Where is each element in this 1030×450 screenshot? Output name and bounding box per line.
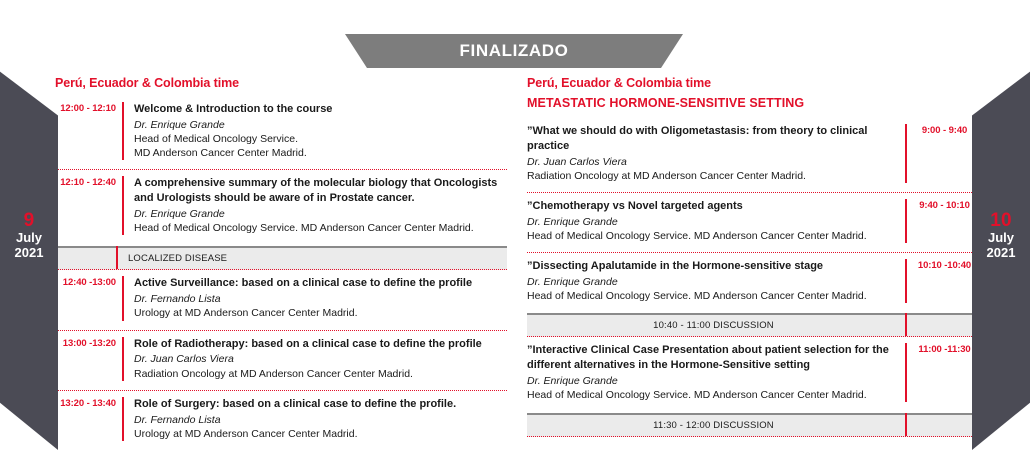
session-body: ”Chemotherapy vs Novel targeted agents D… bbox=[527, 199, 905, 243]
date-year-value: 2021 bbox=[972, 246, 1030, 261]
session-speaker: Dr. Fernando Lista bbox=[134, 292, 507, 306]
session-body: Role of Surgery: based on a clinical cas… bbox=[134, 397, 507, 441]
agenda-row[interactable]: ”Interactive Clinical Case Presentation … bbox=[527, 337, 982, 413]
session-time: 9:00 - 9:40 bbox=[907, 124, 982, 136]
session-affiliation-line1: Head of Medical Oncology Service. MD And… bbox=[527, 388, 896, 402]
session-affiliation-line1: Head of Medical Oncology Service. MD And… bbox=[527, 289, 896, 303]
date-panel-day1-text: 9 July 2021 bbox=[0, 210, 58, 260]
agenda-row[interactable]: 13:00 -13:20 Role of Radiotherapy: based… bbox=[55, 331, 507, 391]
date-panel-day2: 10 July 2021 bbox=[972, 20, 1030, 450]
session-speaker: Dr. Juan Carlos Viera bbox=[134, 352, 507, 366]
session-body: ”What we should do with Oligometastasis:… bbox=[527, 124, 905, 183]
timezone-title-day1: Perú, Ecuador & Colombia time bbox=[55, 76, 507, 90]
session-body: ”Interactive Clinical Case Presentation … bbox=[527, 343, 905, 402]
session-time: 10:10 -10:40 bbox=[907, 259, 982, 271]
timezone-title-day2: Perú, Ecuador & Colombia time bbox=[527, 76, 982, 90]
date-panel-day1: 9 July 2021 bbox=[0, 20, 58, 450]
session-body: ”Dissecting Apalutamide in the Hormone-s… bbox=[527, 259, 905, 303]
session-time: 12:40 -13:00 bbox=[55, 276, 122, 288]
section-band-label: LOCALIZED DISEASE bbox=[128, 253, 227, 264]
session-speaker: Dr. Juan Carlos Viera bbox=[527, 155, 896, 169]
session-title: A comprehensive summary of the molecular… bbox=[134, 176, 507, 206]
band-accent-tick bbox=[905, 413, 907, 436]
session-speaker: Dr. Enrique Grande bbox=[527, 215, 896, 229]
session-time: 12:00 - 12:10 bbox=[55, 102, 122, 114]
discussion-band-1: 10:40 - 11:00 DISCUSSION bbox=[527, 313, 982, 337]
session-speaker: Dr. Enrique Grande bbox=[134, 118, 507, 132]
agenda-row[interactable]: 12:00 - 12:10 Welcome & Introduction to … bbox=[55, 96, 507, 170]
agenda-column-day2: Perú, Ecuador & Colombia time METASTATIC… bbox=[527, 76, 982, 437]
session-title: Active Surveillance: based on a clinical… bbox=[134, 276, 507, 291]
session-body: Welcome & Introduction to the course Dr.… bbox=[134, 102, 507, 160]
row-accent-bar bbox=[122, 397, 124, 441]
session-body: Active Surveillance: based on a clinical… bbox=[134, 276, 507, 320]
session-time: 12:10 - 12:40 bbox=[55, 176, 122, 188]
date-year-value: 2021 bbox=[0, 246, 58, 261]
row-accent-bar bbox=[122, 102, 124, 160]
session-title: Role of Radiotherapy: based on a clinica… bbox=[134, 337, 507, 352]
row-accent-bar bbox=[122, 337, 124, 381]
date-month-value: July bbox=[0, 231, 58, 246]
band-accent-tick bbox=[905, 313, 907, 336]
session-affiliation-line1: Radiation Oncology at MD Anderson Cancer… bbox=[527, 169, 896, 183]
section-title-metastatic: METASTATIC HORMONE-SENSITIVE SETTING bbox=[527, 96, 982, 110]
session-time: 13:20 - 13:40 bbox=[55, 397, 122, 409]
agenda-row[interactable]: 12:40 -13:00 Active Surveillance: based … bbox=[55, 270, 507, 330]
session-title: ”Dissecting Apalutamide in the Hormone-s… bbox=[527, 259, 896, 274]
session-title: ”Interactive Clinical Case Presentation … bbox=[527, 343, 896, 373]
date-panel-day2-text: 10 July 2021 bbox=[972, 210, 1030, 260]
session-speaker: Dr. Fernando Lista bbox=[134, 413, 507, 427]
row-accent-bar bbox=[122, 176, 124, 235]
session-body: A comprehensive summary of the molecular… bbox=[134, 176, 507, 235]
agenda-row[interactable]: 13:20 - 13:40 Role of Surgery: based on … bbox=[55, 391, 507, 450]
session-speaker: Dr. Enrique Grande bbox=[527, 374, 896, 388]
session-body: Role of Radiotherapy: based on a clinica… bbox=[134, 337, 507, 381]
discussion-band-2: 11:30 - 12:00 DISCUSSION bbox=[527, 413, 982, 437]
session-title: Welcome & Introduction to the course bbox=[134, 102, 507, 117]
session-title: ”Chemotherapy vs Novel targeted agents bbox=[527, 199, 896, 214]
status-banner: FINALIZADO bbox=[345, 34, 683, 68]
date-day-value: 9 bbox=[0, 210, 58, 231]
session-title: ”What we should do with Oligometastasis:… bbox=[527, 124, 896, 154]
band-accent-tick bbox=[116, 246, 118, 269]
session-affiliation-line1: Urology at MD Anderson Cancer Center Mad… bbox=[134, 427, 507, 441]
agenda-row[interactable]: ”Chemotherapy vs Novel targeted agents D… bbox=[527, 193, 982, 253]
agenda-row[interactable]: ”What we should do with Oligometastasis:… bbox=[527, 118, 982, 193]
session-speaker: Dr. Enrique Grande bbox=[527, 275, 896, 289]
agenda-row[interactable]: ”Dissecting Apalutamide in the Hormone-s… bbox=[527, 253, 982, 313]
session-affiliation-line1: Radiation Oncology at MD Anderson Cancer… bbox=[134, 367, 507, 381]
session-affiliation-line1: Head of Medical Oncology Service. bbox=[134, 132, 507, 146]
discussion-band-label: 11:30 - 12:00 DISCUSSION bbox=[653, 420, 774, 431]
session-title: Role of Surgery: based on a clinical cas… bbox=[134, 397, 507, 412]
status-badge: FINALIZADO bbox=[345, 34, 683, 68]
date-day-value: 10 bbox=[972, 210, 1030, 231]
session-affiliation-line1: Head of Medical Oncology Service. MD And… bbox=[134, 221, 507, 235]
agenda-column-day1: Perú, Ecuador & Colombia time 12:00 - 12… bbox=[55, 76, 507, 450]
discussion-band-label: 10:40 - 11:00 DISCUSSION bbox=[653, 320, 774, 331]
session-time: 9:40 - 10:10 bbox=[907, 199, 982, 211]
row-accent-bar bbox=[122, 276, 124, 320]
session-affiliation-line1: Urology at MD Anderson Cancer Center Mad… bbox=[134, 306, 507, 320]
session-time: 13:00 -13:20 bbox=[55, 337, 122, 349]
date-month-value: July bbox=[972, 231, 1030, 246]
session-speaker: Dr. Enrique Grande bbox=[134, 207, 507, 221]
section-band-localized-disease: LOCALIZED DISEASE bbox=[55, 246, 507, 270]
session-time: 11:00 -11:30 bbox=[907, 343, 982, 355]
agenda-canvas: 9 July 2021 10 July 2021 FINALIZADO Perú… bbox=[0, 0, 1030, 450]
session-affiliation-line1: Head of Medical Oncology Service. MD And… bbox=[527, 229, 896, 243]
agenda-row[interactable]: 12:10 - 12:40 A comprehensive summary of… bbox=[55, 170, 507, 246]
session-affiliation-line2: MD Anderson Cancer Center Madrid. bbox=[134, 146, 507, 160]
